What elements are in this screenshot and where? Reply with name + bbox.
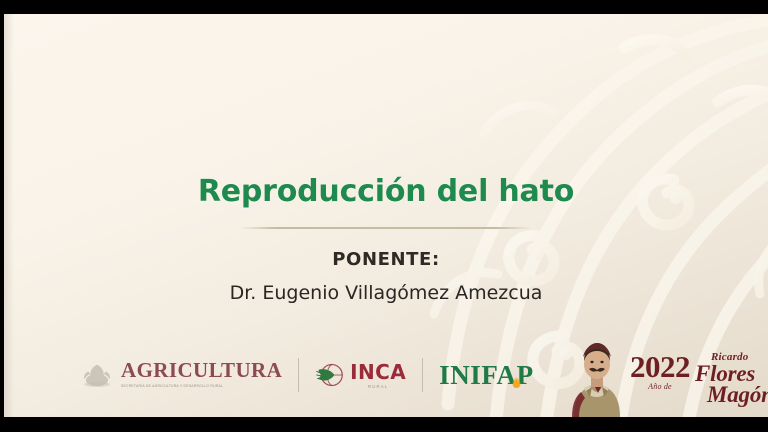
- emblem-last-name-line2: Magón: [707, 384, 768, 405]
- inifap-logo-text: INIFAP: [439, 360, 534, 390]
- inca-logo-text: INCA: [350, 362, 406, 382]
- emblem-year: 2022: [630, 352, 690, 381]
- logo-agriculture: AGRICULTURA SECRETARÍA DE AGRICULTURA Y …: [64, 349, 298, 401]
- emblem-last-name-line1: Flores: [695, 363, 768, 384]
- logo-divider-1: [298, 358, 299, 392]
- institutional-logo-bar: AGRICULTURA SECRETARÍA DE AGRICULTURA Y …: [64, 349, 550, 401]
- logo-divider-2: [422, 358, 423, 392]
- ricardo-flores-magon-portrait-icon: [566, 333, 628, 417]
- mexican-eagle-seal-icon: [80, 358, 114, 392]
- speaker-name: Dr. Eugenio Villagómez Amezcua: [4, 282, 768, 304]
- logo-inifap: INIFAP: [423, 349, 550, 401]
- agriculture-logo-subtitle: SECRETARÍA DE AGRICULTURA Y DESARROLLO R…: [121, 384, 282, 389]
- slide-title-block: Reproducción del hato PONENTE: Dr. Eugen…: [4, 174, 768, 304]
- agriculture-logo-text: AGRICULTURA: [121, 360, 282, 381]
- inca-globe-icon: [315, 361, 345, 389]
- logo-inca-rural: INCA RURAL: [299, 349, 422, 401]
- presentation-slide: Reproducción del hato PONENTE: Dr. Eugen…: [4, 14, 768, 417]
- page-title: Reproducción del hato: [4, 174, 768, 209]
- title-divider: [240, 227, 532, 229]
- inca-logo-subtitle: RURAL: [368, 384, 388, 389]
- emblem-text-lockup: 2022 Año de Ricardo Flores Magón: [630, 352, 768, 417]
- emblem-anio-de: Año de: [648, 383, 672, 391]
- video-player-frame: Reproducción del hato PONENTE: Dr. Eugen…: [0, 0, 768, 432]
- speaker-label: PONENTE:: [4, 249, 768, 270]
- commemorative-emblem-2022: 2022 Año de Ricardo Flores Magón: [566, 331, 762, 417]
